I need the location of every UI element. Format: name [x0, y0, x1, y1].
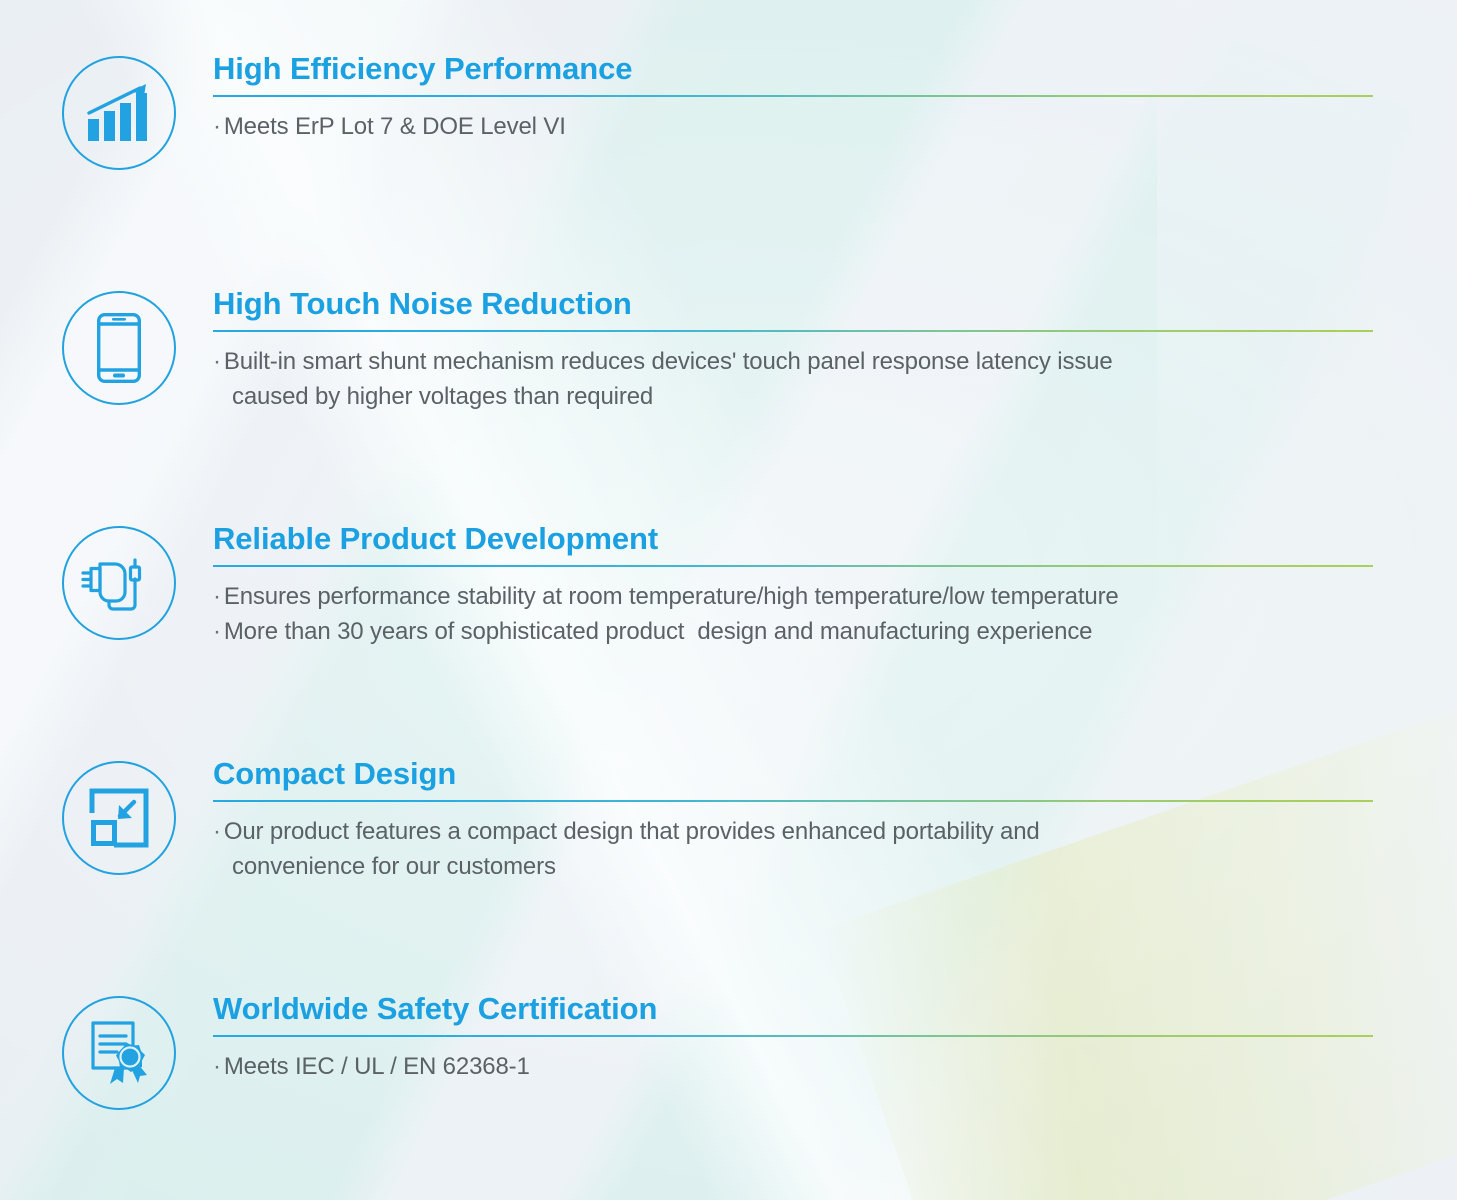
feature-bullets: ·Meets ErP Lot 7 & DOE Level VI [213, 110, 1373, 144]
feature-divider [213, 330, 1373, 332]
certificate-seal-icon [62, 996, 176, 1110]
compact-resize-icon [62, 761, 176, 875]
bullet-marker: · [213, 113, 224, 140]
bullet-item: ·More than 30 years of sophisticated pro… [213, 615, 1373, 649]
power-adapter-icon [62, 526, 176, 640]
feature-divider [213, 565, 1373, 567]
feature-divider [213, 95, 1373, 97]
feature-title: Reliable Product Development [213, 522, 1373, 555]
bullet-text: Ensures performance stability at room te… [224, 583, 1119, 610]
bullet-marker: · [213, 818, 224, 845]
bullet-item: ·Meets IEC / UL / EN 62368-1 [213, 1050, 1373, 1084]
bullet-item: ·Meets ErP Lot 7 & DOE Level VI [213, 110, 1373, 144]
bullet-text: Our product features a compact design th… [224, 818, 1040, 845]
bullet-marker: · [213, 618, 224, 645]
bullet-text: More than 30 years of sophisticated prod… [224, 618, 1093, 645]
feature-title: Compact Design [213, 757, 1373, 790]
feature-bullets: ·Meets IEC / UL / EN 62368-1 [213, 1050, 1373, 1084]
bullet-text-continued: caused by higher voltages than required [213, 380, 1373, 414]
feature-text-block: High Efficiency Performance ·Meets ErP L… [213, 52, 1373, 145]
feature-list: High Efficiency Performance ·Meets ErP L… [0, 0, 1457, 1200]
smartphone-icon [62, 291, 176, 405]
feature-title: High Efficiency Performance [213, 52, 1373, 85]
bullet-item: ·Our product features a compact design t… [213, 815, 1373, 883]
bullet-item: ·Built-in smart shunt mechanism reduces … [213, 345, 1373, 413]
feature-text-block: Compact Design ·Our product features a c… [213, 757, 1373, 884]
feature-divider [213, 800, 1373, 802]
bar-chart-growth-icon [62, 56, 176, 170]
bullet-item: ·Ensures performance stability at room t… [213, 580, 1373, 614]
feature-bullets: ·Ensures performance stability at room t… [213, 580, 1373, 648]
feature-divider [213, 1035, 1373, 1037]
feature-bullets: ·Our product features a compact design t… [213, 815, 1373, 883]
feature-title: Worldwide Safety Certification [213, 992, 1373, 1025]
bullet-text-continued: convenience for our customers [213, 850, 1373, 884]
bullet-marker: · [213, 1053, 224, 1080]
feature-text-block: Worldwide Safety Certification ·Meets IE… [213, 992, 1373, 1085]
feature-bullets: ·Built-in smart shunt mechanism reduces … [213, 345, 1373, 413]
feature-highlight-panel: High Efficiency Performance ·Meets ErP L… [0, 0, 1457, 1200]
bullet-text: Meets IEC / UL / EN 62368-1 [224, 1053, 530, 1080]
bullet-text: Meets ErP Lot 7 & DOE Level VI [224, 113, 566, 140]
feature-text-block: Reliable Product Development ·Ensures pe… [213, 522, 1373, 649]
bullet-marker: · [213, 583, 224, 610]
feature-title: High Touch Noise Reduction [213, 287, 1373, 320]
bullet-marker: · [213, 348, 224, 375]
feature-text-block: High Touch Noise Reduction ·Built-in sma… [213, 287, 1373, 414]
bullet-text: Built-in smart shunt mechanism reduces d… [224, 348, 1113, 375]
